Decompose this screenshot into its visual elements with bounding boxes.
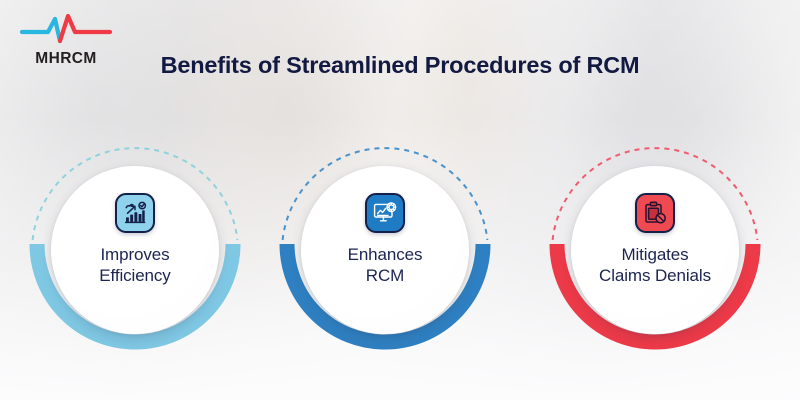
benefit-card-mitigates-claims-denials[interactable]: Mitigates Claims Denials [535, 130, 775, 370]
clipboard-denied-icon [635, 193, 675, 233]
benefit-disc-1: Improves Efficiency [51, 166, 219, 334]
benefits-row: Improves Efficiency [0, 130, 800, 370]
benefit-label-1: Improves Efficiency [55, 244, 215, 287]
benefit-label-2: Enhances RCM [305, 244, 465, 287]
heartbeat-pulse-icon [18, 12, 114, 51]
page-title: Benefits of Streamlined Procedures of RC… [0, 52, 800, 79]
monitor-analytics-icon [365, 193, 405, 233]
growth-chart-check-icon [115, 193, 155, 233]
infographic-poster: MHRCM Benefits of Streamlined Procedures… [0, 0, 800, 400]
benefit-card-improves-efficiency[interactable]: Improves Efficiency [15, 130, 255, 370]
benefit-card-enhances-rcm[interactable]: Enhances RCM [265, 130, 505, 370]
benefit-disc-2: Enhances RCM [301, 166, 469, 334]
benefit-disc-3: Mitigates Claims Denials [571, 166, 739, 334]
benefit-label-3: Mitigates Claims Denials [567, 244, 743, 287]
